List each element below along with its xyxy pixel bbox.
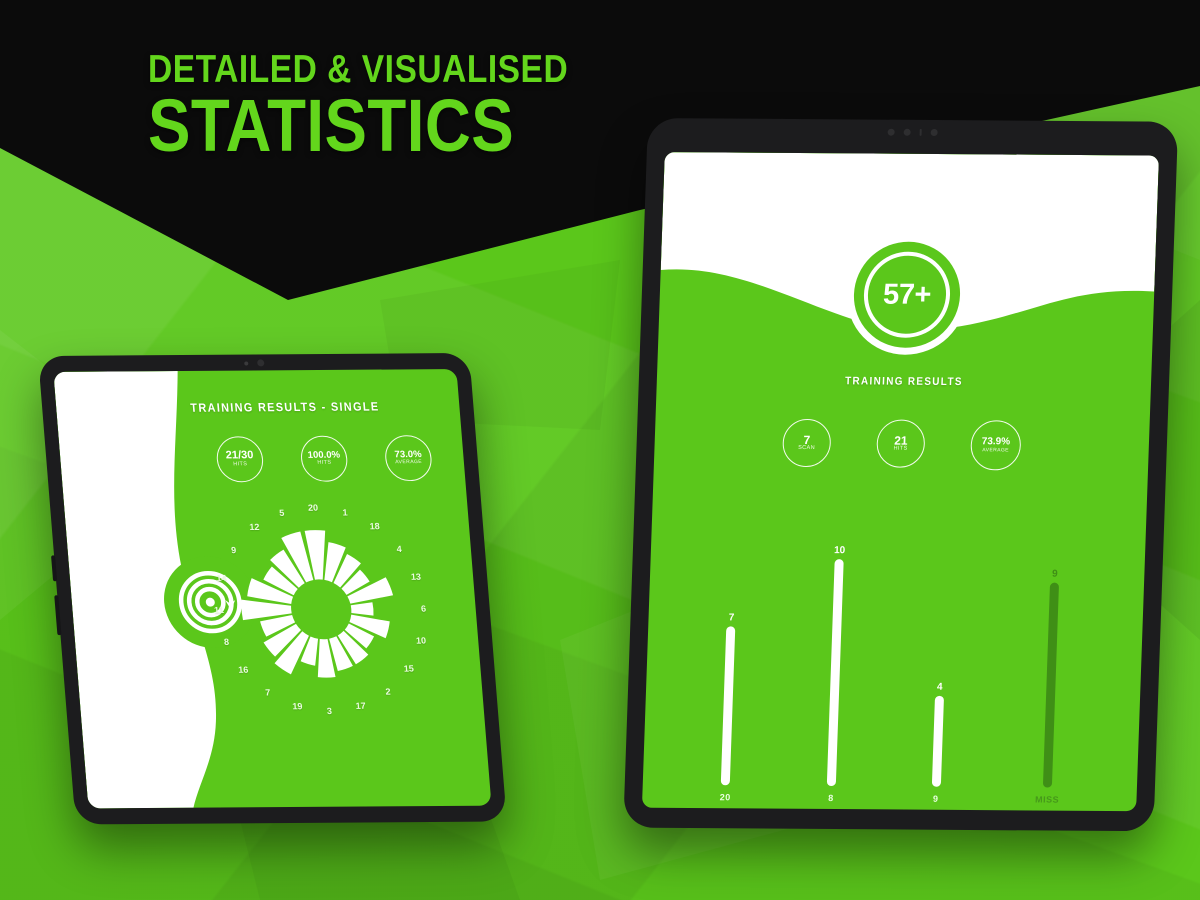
stat-label: SCAN: [798, 446, 815, 452]
tablet-left-camera-strip: [244, 359, 265, 366]
rose-segment-label: 10: [416, 635, 427, 645]
bar-value-label: 10: [834, 545, 846, 556]
sensor-icon: [244, 361, 248, 365]
rose-segment-label: 14: [216, 574, 227, 584]
rose-segment-label: 16: [238, 665, 249, 675]
rose-segment-label: 11: [214, 605, 224, 615]
stat-circle-average[interactable]: 73.0% AVERAGE: [383, 435, 433, 481]
rose-segment-label: 4: [396, 544, 402, 554]
rose-segment-label: 15: [403, 664, 414, 674]
bar-stem: [721, 626, 736, 785]
tablet-right-screen: 57+ TRAINING RESULTS 7 SCAN 21 HITS 73.9…: [642, 152, 1159, 811]
rose-segment-label: 17: [355, 701, 366, 711]
rose-segment-label: 5: [279, 508, 285, 518]
bar-chart[interactable]: 720108499MISS: [672, 502, 1117, 805]
rose-segment-label: 8: [224, 636, 230, 646]
rose-wedge[interactable]: [351, 602, 374, 616]
bar-stem: [1043, 583, 1059, 787]
rose-segment-label: 7: [265, 687, 271, 697]
score-badge-value: 57+: [862, 251, 951, 338]
camera-icon: [257, 359, 265, 366]
bar-category-label: MISS: [1035, 794, 1059, 804]
rose-segment-label: 12: [249, 522, 260, 532]
rose-segment-label: 19: [292, 701, 303, 711]
tablet-right-camera-strip: [888, 129, 938, 136]
speaker-icon: [920, 129, 922, 136]
rose-segment-label: 2: [385, 686, 391, 696]
left-stat-row: 21/30 HITS 100.0% HITS 73.0% AVERAGE: [59, 434, 492, 483]
camera-icon: [904, 129, 911, 136]
bar-column[interactable]: 9MISS: [1035, 505, 1069, 805]
stat-label: HITS: [893, 447, 907, 453]
headline: DETAILED & VISUALISED STATISTICS: [148, 52, 668, 160]
rose-segment-label: 20: [308, 503, 319, 513]
rose-segment-label: 1: [342, 507, 348, 517]
bar-value-label: 9: [1052, 569, 1058, 580]
tablet-left: TRAINING RESULTS - SINGLE 21/30 HITS 100…: [38, 353, 507, 824]
stat-circle-scan[interactable]: 7 SCAN: [782, 419, 832, 467]
stat-label: AVERAGE: [395, 460, 422, 465]
bar-stem: [932, 696, 944, 787]
rose-segment-label: 13: [411, 572, 422, 582]
stat-label: HITS: [233, 462, 248, 468]
bar-stem: [827, 559, 844, 786]
rose-segment-label: 9: [231, 545, 237, 555]
bar-value-label: 7: [728, 612, 734, 623]
score-badge[interactable]: 57+: [852, 241, 962, 348]
tablet-left-screen: TRAINING RESULTS - SINGLE 21/30 HITS 100…: [53, 369, 491, 808]
polar-rose-labels: 2011841361015217319716811149125: [220, 723, 441, 725]
stat-circle-average[interactable]: 73.9% AVERAGE: [970, 420, 1022, 470]
bar-value-label: 4: [937, 682, 943, 693]
left-section-title: TRAINING RESULTS - SINGLE: [76, 399, 440, 415]
headline-line-1: DETAILED & VISUALISED: [148, 52, 595, 88]
stat-label: AVERAGE: [982, 448, 1009, 453]
stat-circle-hits[interactable]: 21 HITS: [876, 419, 926, 467]
bar-column[interactable]: 108: [825, 503, 847, 803]
bar-category-label: 8: [828, 793, 834, 803]
stat-circle-hits-ratio[interactable]: 21/30 HITS: [215, 436, 265, 482]
right-section-title: TRAINING RESULTS: [681, 374, 1126, 389]
polar-rose-chart[interactable]: 2011841361015217319716811149125: [202, 499, 440, 720]
polar-rose-svg: [202, 499, 440, 720]
tablet-right: 57+ TRAINING RESULTS 7 SCAN 21 HITS 73.9…: [623, 118, 1178, 831]
bar-category-label: 20: [720, 792, 731, 802]
bar-column[interactable]: 720: [720, 502, 741, 802]
stat-circle-hits-percent[interactable]: 100.0% HITS: [299, 436, 349, 482]
rose-segment-label: 6: [421, 604, 427, 614]
rose-segment-label: 18: [369, 522, 380, 532]
right-stat-row: 7 SCAN 21 HITS 73.9% AVERAGE: [654, 418, 1150, 471]
front-camera-icon: [931, 129, 938, 136]
bar-category-label: 9: [933, 794, 939, 804]
rose-segment-label: 3: [326, 706, 332, 716]
headline-line-2: STATISTICS: [148, 92, 595, 160]
stat-label: HITS: [317, 461, 332, 467]
bar-column[interactable]: 49: [931, 504, 950, 804]
sensor-icon: [888, 129, 895, 136]
